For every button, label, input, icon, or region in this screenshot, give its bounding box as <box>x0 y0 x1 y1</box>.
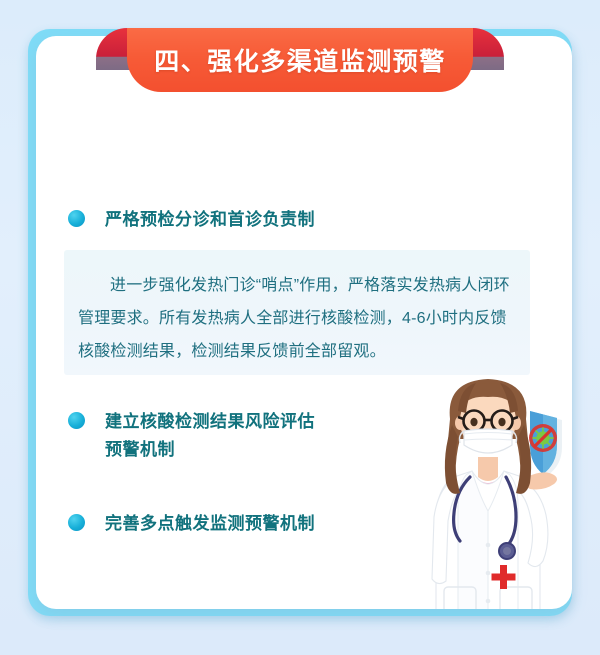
bullet-label-1: 严格预检分诊和首诊负责制 <box>105 206 315 234</box>
paragraph-panel: 进一步强化发热门诊“哨点”作用，严格落实发热病人闭环管理要求。所有发热病人全部进… <box>64 250 530 375</box>
page-background: 严格预检分诊和首诊负责制 进一步强化发热门诊“哨点”作用，严格落实发热病人闭环管… <box>0 0 600 655</box>
bullet-label-3: 完善多点触发监测预警机制 <box>105 510 315 538</box>
content-card: 严格预检分诊和首诊负责制 进一步强化发热门诊“哨点”作用，严格落实发热病人闭环管… <box>36 36 572 609</box>
bullet-item-1: 严格预检分诊和首诊负责制 <box>68 206 315 234</box>
bullet-dot-icon <box>68 412 85 429</box>
bullet-item-3: 完善多点触发监测预警机制 <box>68 510 315 538</box>
bullet-item-2: 建立核酸检测结果风险评估 预警机制 <box>68 408 315 464</box>
doctor-illustration <box>394 365 572 609</box>
virus-shield-icon <box>529 411 562 475</box>
bullet-label-2: 建立核酸检测结果风险评估 预警机制 <box>105 408 315 464</box>
face-mask-icon <box>460 429 517 453</box>
bullet-dot-icon <box>68 514 85 531</box>
bullet-dot-icon <box>68 210 85 227</box>
card-content: 严格预检分诊和首诊负责制 进一步强化发热门诊“哨点”作用，严格落实发热病人闭环管… <box>36 128 572 609</box>
paragraph-text: 进一步强化发热门诊“哨点”作用，严格落实发热病人闭环管理要求。所有发热病人全部进… <box>64 250 530 368</box>
